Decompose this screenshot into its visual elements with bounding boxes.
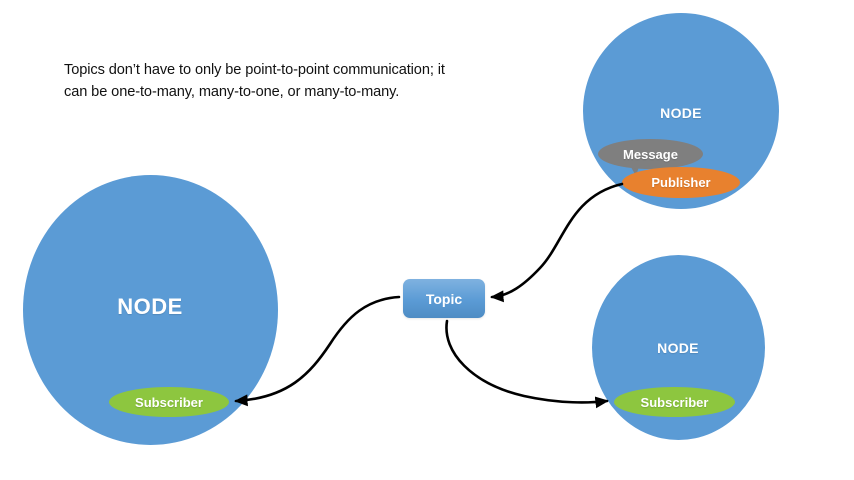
node-label-bottom-right: NODE xyxy=(657,340,699,356)
subscriber-pill-left: Subscriber xyxy=(109,387,229,417)
connector-publisher-to-topic xyxy=(492,184,622,297)
diagram-canvas: Topics don’t have to only be point-to-po… xyxy=(0,0,854,480)
message-pill: Message xyxy=(598,139,703,169)
publisher-pill: Publisher xyxy=(622,167,740,198)
connector-topic-to-subscriber-right xyxy=(446,321,607,402)
subscriber-pill-right: Subscriber xyxy=(614,387,735,417)
caption-text: Topics don’t have to only be point-to-po… xyxy=(64,60,484,104)
topic-box[interactable]: Topic xyxy=(403,279,485,318)
node-label-left: NODE xyxy=(117,294,183,320)
node-label-top-right: NODE xyxy=(660,105,702,121)
